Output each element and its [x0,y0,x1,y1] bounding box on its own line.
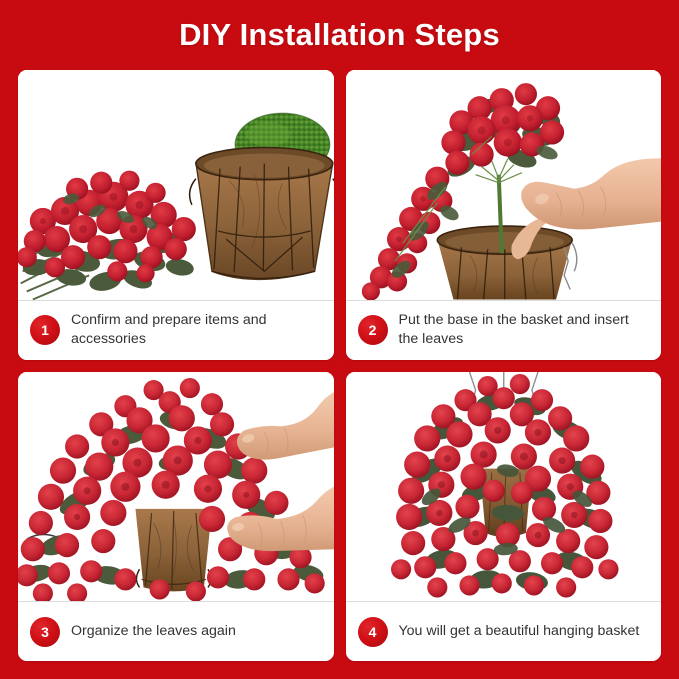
steps-grid: 1 Confirm and prepare items and accessor… [18,70,661,661]
step-1-badge: 1 [30,315,60,345]
photo-hands-arranging-leaves-on-basket [18,372,334,602]
photo-hand-inserting-flower-bush-into-basket [346,70,662,300]
step-3-caption-text: Organize the leaves again [71,622,236,641]
step-2-caption: 2 Put the base in the basket and insert … [346,301,662,360]
step-1-photo [18,70,334,301]
step-4-caption: 4 You will get a beautiful hanging baske… [346,602,662,661]
photo-supplies-flower-bushes-basket-moss-disc [18,70,334,300]
diy-installation-steps-infographic: DIY Installation Steps [0,0,679,679]
wire-basket-shape [437,226,576,299]
step-1-caption-text: Confirm and prepare items and accessorie… [71,311,322,348]
step-card-4[interactable]: 4 You will get a beautiful hanging baske… [346,372,662,662]
photo-finished-hanging-basket [346,372,662,602]
wire-basket-shape [190,148,334,280]
step-2-caption-text: Put the base in the basket and insert th… [399,311,650,348]
step-card-1[interactable]: 1 Confirm and prepare items and accessor… [18,70,334,360]
step-1-caption: 1 Confirm and prepare items and accessor… [18,301,334,360]
step-3-badge: 3 [30,617,60,647]
step-3-caption: 3 Organize the leaves again [18,602,334,661]
step-4-caption-text: You will get a beautiful hanging basket [399,622,640,641]
step-4-photo [346,372,662,603]
page-title: DIY Installation Steps [18,0,661,70]
step-card-2[interactable]: 2 Put the base in the basket and insert … [346,70,662,360]
step-2-photo [346,70,662,301]
step-4-badge: 4 [358,617,388,647]
step-2-badge: 2 [358,315,388,345]
step-card-3[interactable]: 3 Organize the leaves again [18,372,334,662]
step-3-photo [18,372,334,603]
